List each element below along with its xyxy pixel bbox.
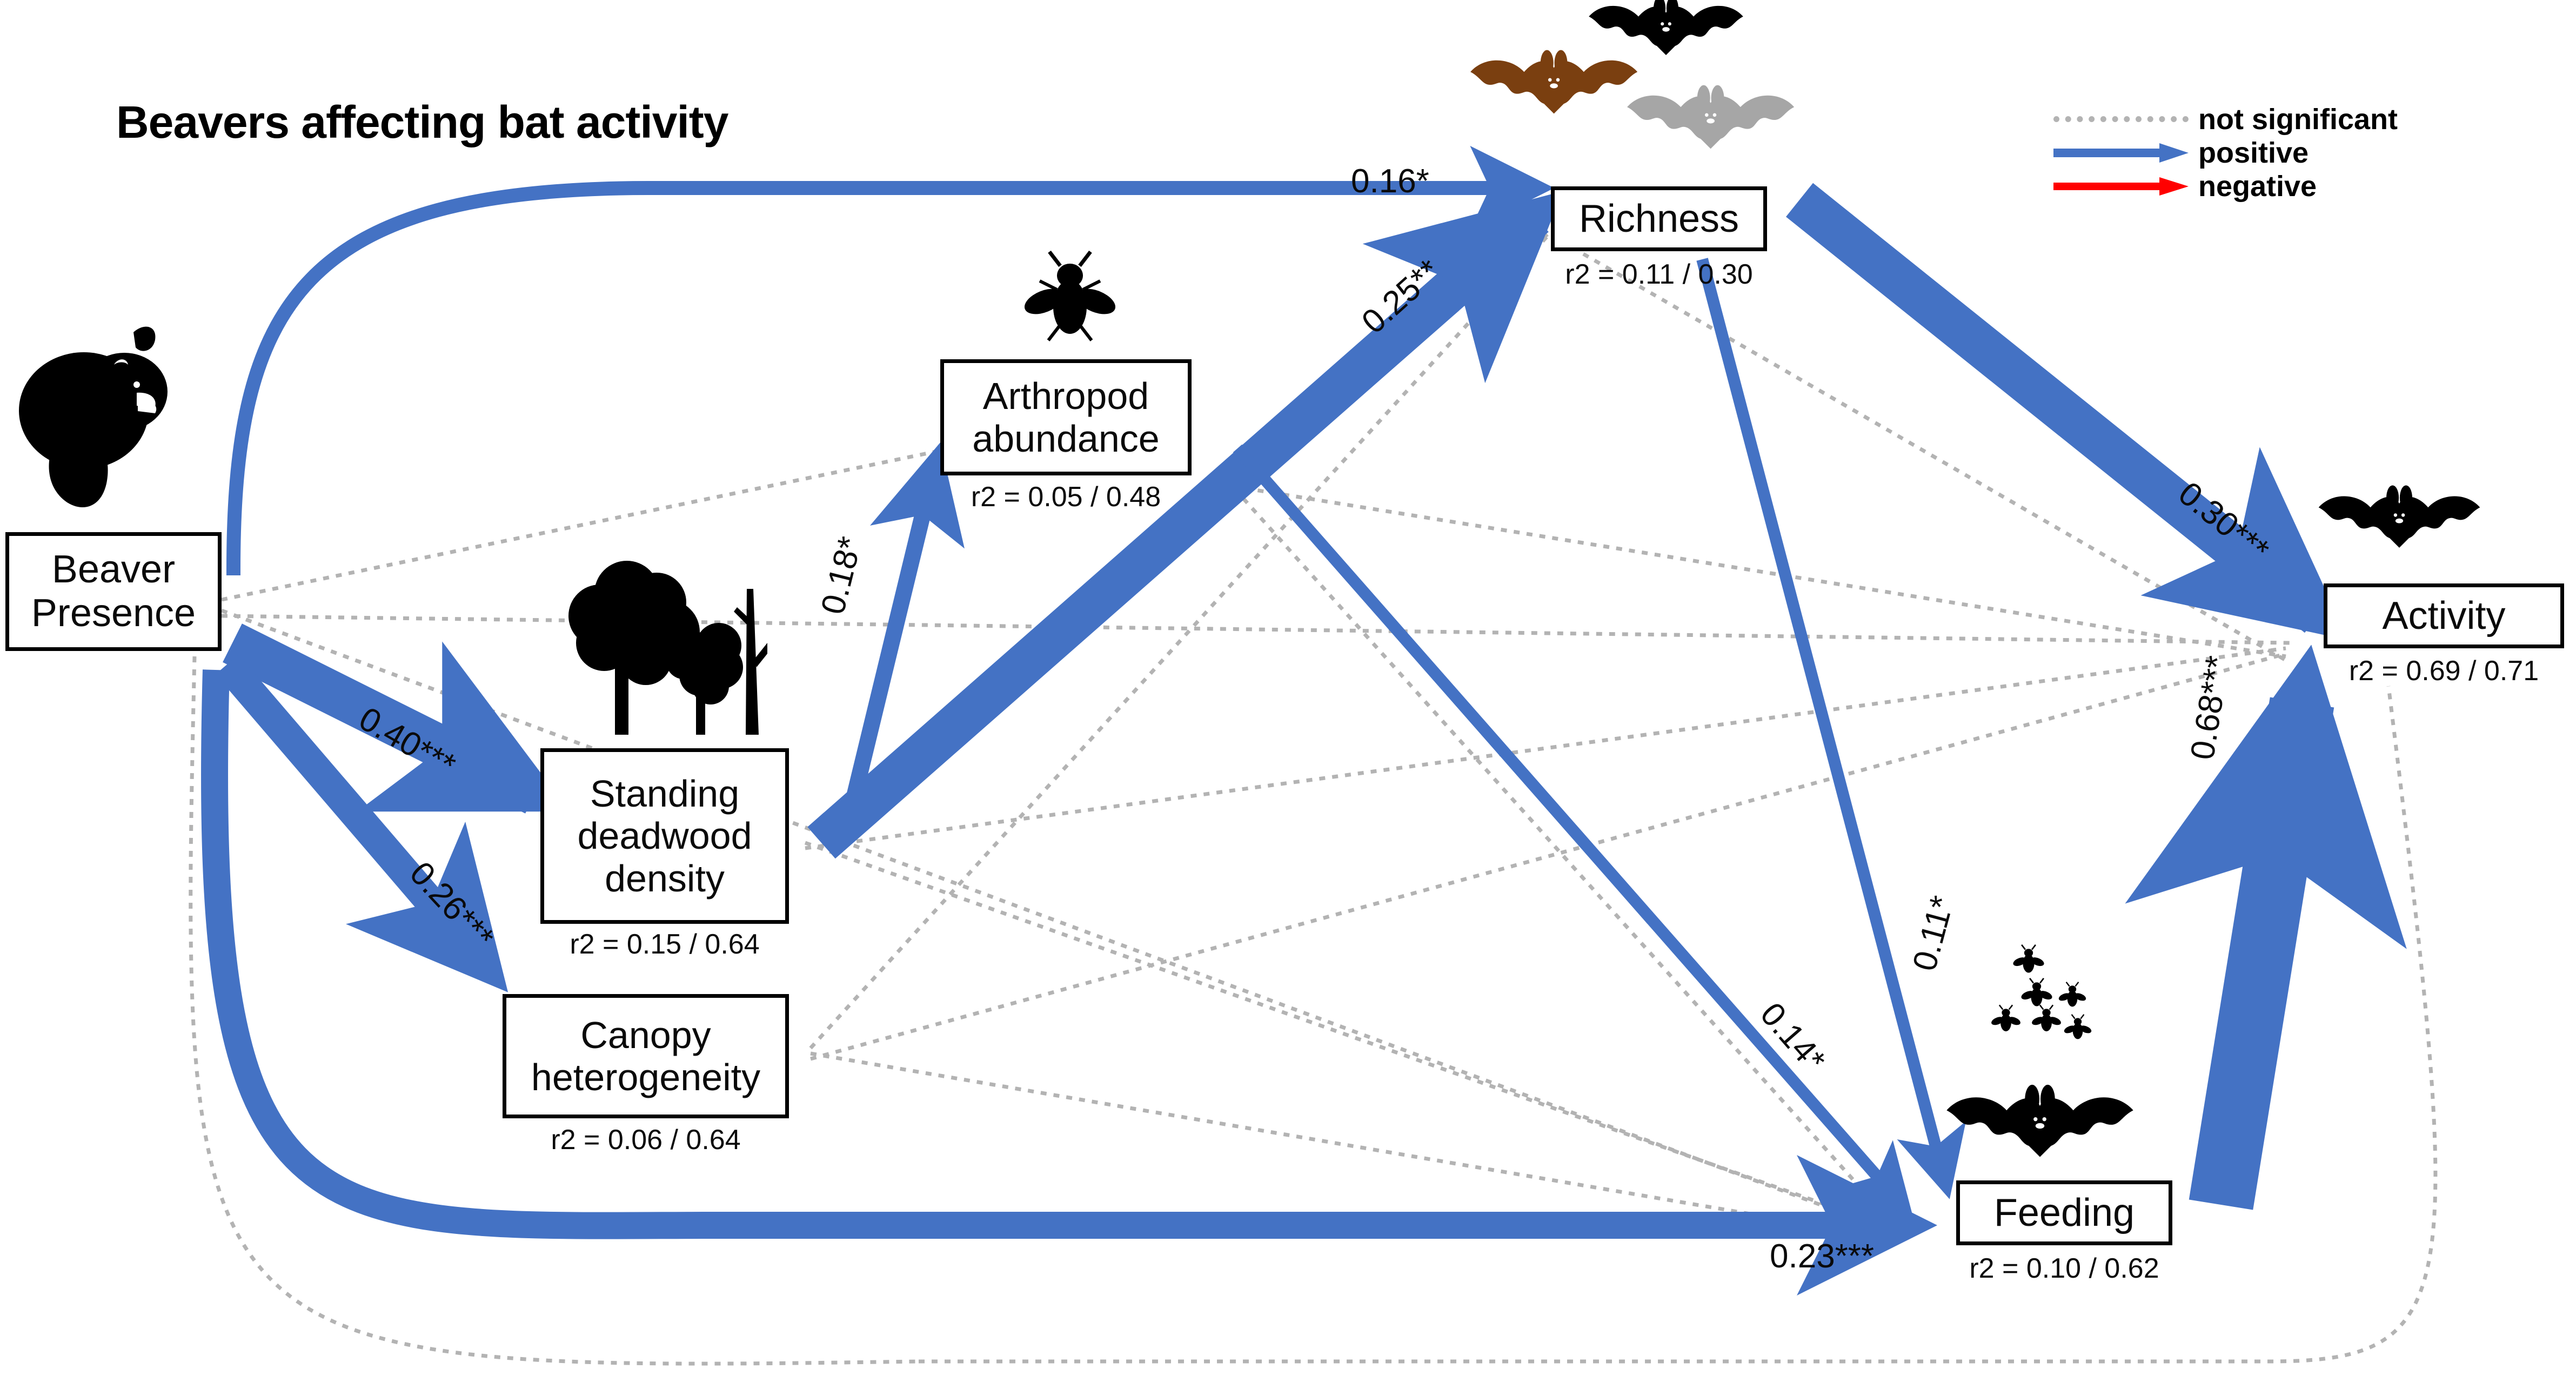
node-arthropod-abundance[interactable]: Arthropod abundance (940, 359, 1192, 475)
legend-label: positive (2198, 138, 2309, 167)
legend: not significant positive negative (2053, 103, 2398, 203)
legend-dotted-line-icon (2053, 109, 2189, 130)
node-richness[interactable]: Richness (1551, 186, 1767, 251)
fly-icon (1016, 238, 1124, 346)
node-label: Beaver Presence (9, 548, 218, 635)
page-title: Beavers affecting bat activity (116, 96, 728, 149)
path-label-beaver-feeding: 0.23*** (1770, 1237, 1874, 1276)
bat-feeding-icon (1940, 1072, 2140, 1180)
legend-item-negative: negative (2053, 170, 2398, 203)
edge-layer (0, 0, 2576, 1376)
legend-blue-arrow-icon (2053, 142, 2189, 164)
node-r2-richness: r2 = 0.11 / 0.30 (1551, 258, 1767, 291)
legend-label: negative (2198, 172, 2317, 201)
node-feeding[interactable]: Feeding (1956, 1180, 2172, 1245)
node-label: Standing deadwood density (544, 773, 785, 900)
path-diagram-canvas: Beavers affecting bat activity not signi… (0, 0, 2576, 1376)
bat-trio-icon (1459, 0, 1816, 162)
node-r2-arthropod: r2 = 0.05 / 0.48 (940, 481, 1192, 513)
path-label-beaver-richness: 0.16* (1351, 162, 1429, 200)
node-label: Activity (2379, 594, 2508, 638)
node-r2-activity: r2 = 0.69 / 0.71 (2324, 655, 2564, 687)
node-r2-canopy: r2 = 0.06 / 0.64 (503, 1124, 789, 1156)
node-canopy-heterogeneity[interactable]: Canopy heterogeneity (503, 994, 789, 1118)
node-label: Canopy heterogeneity (506, 1014, 785, 1099)
node-standing-deadwood-density[interactable]: Standing deadwood density (540, 748, 789, 924)
path-arthropod-richness (821, 216, 1535, 843)
flies-swarm-icon (1989, 940, 2140, 1053)
legend-item-positive: positive (2053, 136, 2398, 170)
legend-red-arrow-icon (2053, 176, 2189, 197)
path-feeding-activity (2221, 702, 2302, 1205)
beaver-icon (8, 311, 192, 538)
node-r2-feeding: r2 = 0.10 / 0.62 (1956, 1252, 2172, 1285)
node-label: Feeding (1991, 1191, 2138, 1235)
bat-activity-icon (2313, 475, 2486, 567)
node-beaver-presence[interactable]: Beaver Presence (5, 532, 222, 651)
trees-icon (535, 551, 767, 735)
node-activity[interactable]: Activity (2324, 583, 2564, 648)
node-label: Arthropod abundance (944, 375, 1188, 460)
node-r2-deadwood: r2 = 0.15 / 0.64 (540, 928, 789, 961)
path-arthropod-feeding (1237, 448, 1902, 1205)
legend-item-not-significant: not significant (2053, 103, 2398, 136)
legend-label: not significant (2198, 105, 2398, 134)
node-label: Richness (1576, 197, 1742, 241)
